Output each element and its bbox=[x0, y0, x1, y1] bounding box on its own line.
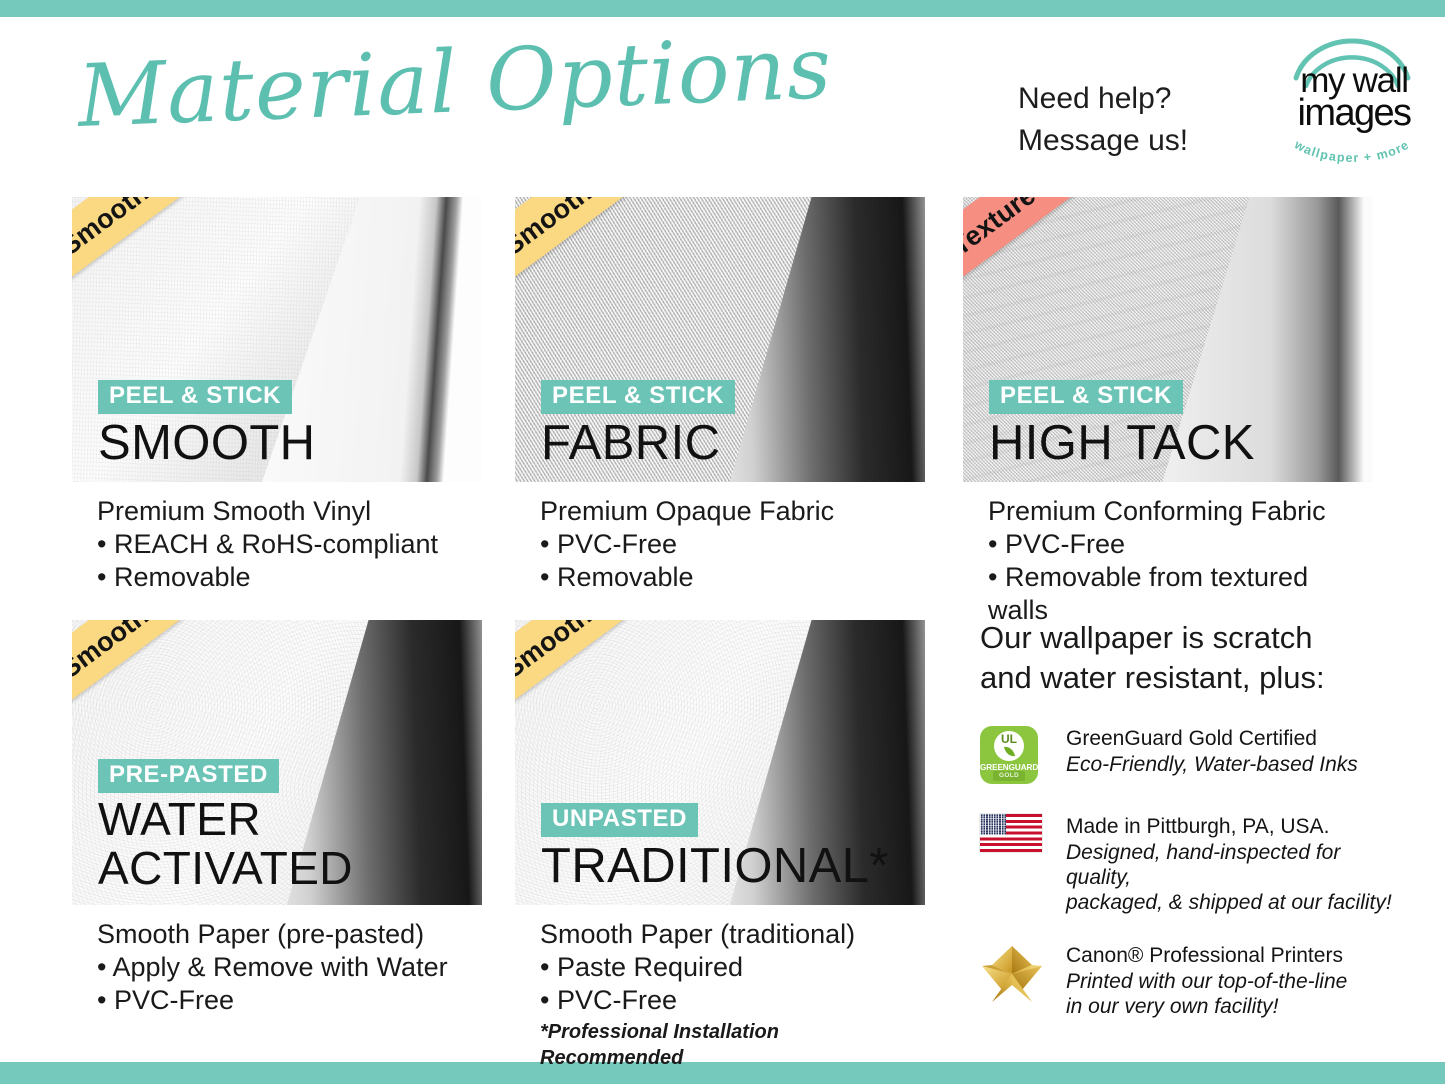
flag-canton bbox=[980, 814, 1006, 835]
material-card-smooth[interactable]: for Smooth Walls PEEL & STICK SMOOTH Pre… bbox=[72, 197, 482, 594]
us-flag bbox=[980, 814, 1042, 852]
status-badge: PEEL & STICK bbox=[541, 380, 735, 414]
gold-star-icon bbox=[980, 941, 1066, 1005]
product-description: Smooth Paper (pre-pasted) • Apply & Remo… bbox=[72, 918, 482, 1017]
feature-subtitle: Printed with our top-of-the-line in our … bbox=[1066, 969, 1400, 1019]
description-bullet: • PVC-Free bbox=[540, 984, 925, 1017]
ul-mark-label: UL bbox=[994, 733, 1024, 746]
description-heading: Smooth Paper (traditional) bbox=[540, 918, 925, 951]
product-description: Premium Conforming Fabric • PVC-Free • R… bbox=[963, 495, 1373, 627]
product-name: TRADITIONAL* bbox=[541, 839, 889, 893]
product-name: FABRIC bbox=[541, 416, 735, 470]
description-heading: Premium Opaque Fabric bbox=[540, 495, 925, 528]
material-card-water-activated[interactable]: for Smooth Walls PRE-PASTED WATER ACTIVA… bbox=[72, 620, 482, 1017]
description-bullet: • Paste Required bbox=[540, 951, 925, 984]
product-overlay: PEEL & STICK HIGH TACK bbox=[989, 380, 1255, 470]
feature-row-canon-printers: Canon® Professional Printers Printed wit… bbox=[980, 941, 1400, 1019]
product-overlay: PEEL & STICK FABRIC bbox=[541, 380, 735, 470]
description-bullet: • PVC-Free bbox=[97, 984, 482, 1017]
feature-title: GreenGuard Gold Certified bbox=[1066, 726, 1400, 752]
product-overlay: PRE-PASTED WATER ACTIVATED bbox=[98, 759, 353, 893]
description-bullet: • Apply & Remove with Water bbox=[97, 951, 482, 984]
product-photo-smooth: for Smooth Walls PEEL & STICK SMOOTH bbox=[72, 197, 482, 482]
need-help-line-1: Need help? bbox=[1018, 78, 1248, 120]
status-badge: UNPASTED bbox=[541, 803, 698, 837]
description-bullet: • PVC-Free bbox=[540, 528, 925, 561]
product-description: Premium Smooth Vinyl • REACH & RoHS-comp… bbox=[72, 495, 482, 594]
feature-text: Canon® Professional Printers Printed wit… bbox=[1066, 941, 1400, 1019]
feature-row-greenguard: UL GREENGUARD GOLD GreenGuard Gold Certi… bbox=[980, 724, 1400, 786]
top-accent-bar bbox=[0, 0, 1445, 17]
status-badge: PRE-PASTED bbox=[98, 759, 279, 793]
description-bullet: • REACH & RoHS-compliant bbox=[97, 528, 482, 561]
description-bullet: • PVC-Free bbox=[988, 528, 1373, 561]
description-bullet: • Removable bbox=[540, 561, 925, 594]
material-card-traditional[interactable]: for Smooth Walls UNPASTED TRADITIONAL* S… bbox=[515, 620, 925, 1071]
feature-title: Made in Pittburgh, PA, USA. bbox=[1066, 814, 1400, 840]
material-options-page: Material Options Need help? Message us! … bbox=[0, 0, 1445, 1084]
status-badge: PEEL & STICK bbox=[989, 380, 1183, 414]
description-heading: Premium Conforming Fabric bbox=[988, 495, 1373, 528]
greenguard-badge: UL GREENGUARD GOLD bbox=[980, 726, 1038, 784]
material-card-fabric[interactable]: for Smooth Walls PEEL & STICK FABRIC Pre… bbox=[515, 197, 925, 594]
product-name: HIGH TACK bbox=[989, 416, 1255, 470]
description-footnote: *Professional Installation Recommended bbox=[540, 1019, 925, 1071]
logo-line-2: images bbox=[1280, 96, 1428, 130]
logo-tagline: wallpaper + more bbox=[1276, 130, 1428, 164]
product-overlay: UNPASTED TRADITIONAL* bbox=[541, 803, 889, 893]
description-heading: Premium Smooth Vinyl bbox=[97, 495, 482, 528]
product-photo-fabric: for Smooth Walls PEEL & STICK FABRIC bbox=[515, 197, 925, 482]
feature-title: Canon® Professional Printers bbox=[1066, 943, 1400, 969]
need-help-line-2: Message us! bbox=[1018, 120, 1248, 162]
product-overlay: PEEL & STICK SMOOTH bbox=[98, 380, 315, 470]
greenguard-gold-badge-icon: UL GREENGUARD GOLD bbox=[980, 724, 1066, 784]
product-name: SMOOTH bbox=[98, 416, 315, 470]
product-name: WATER ACTIVATED bbox=[98, 795, 353, 893]
product-description: Premium Opaque Fabric • PVC-Free • Remov… bbox=[515, 495, 925, 594]
brand-logo: my wall images wallpaper + more bbox=[1276, 34, 1428, 162]
product-description: Smooth Paper (traditional) • Paste Requi… bbox=[515, 918, 925, 1071]
features-heading: Our wallpaper is scratch and water resis… bbox=[980, 618, 1400, 698]
feature-subtitle: Eco-Friendly, Water-based Inks bbox=[1066, 752, 1400, 777]
feature-text: Made in Pittburgh, PA, USA. Designed, ha… bbox=[1066, 812, 1400, 915]
svg-text:wallpaper + more: wallpaper + more bbox=[1291, 137, 1412, 164]
product-photo-high-tack: for Textured Walls PEEL & STICK HIGH TAC… bbox=[963, 197, 1373, 482]
status-badge: PEEL & STICK bbox=[98, 380, 292, 414]
feature-row-made-in-usa: Made in Pittburgh, PA, USA. Designed, ha… bbox=[980, 812, 1400, 915]
us-flag-icon bbox=[980, 812, 1066, 852]
material-card-high-tack[interactable]: for Textured Walls PEEL & STICK HIGH TAC… bbox=[963, 197, 1373, 627]
description-bullet: • Removable bbox=[97, 561, 482, 594]
product-photo-water-activated: for Smooth Walls PRE-PASTED WATER ACTIVA… bbox=[72, 620, 482, 905]
greenguard-gold-label: GOLD bbox=[993, 771, 1025, 781]
page-title: Material Options bbox=[76, 14, 700, 158]
feature-subtitle: Designed, hand-inspected for quality, pa… bbox=[1066, 840, 1400, 915]
product-photo-traditional: for Smooth Walls UNPASTED TRADITIONAL* bbox=[515, 620, 925, 905]
gold-star bbox=[980, 943, 1044, 1005]
need-help-block: Need help? Message us! bbox=[1018, 78, 1248, 162]
description-heading: Smooth Paper (pre-pasted) bbox=[97, 918, 482, 951]
feature-text: GreenGuard Gold Certified Eco-Friendly, … bbox=[1066, 724, 1400, 777]
features-panel: Our wallpaper is scratch and water resis… bbox=[980, 618, 1400, 1019]
